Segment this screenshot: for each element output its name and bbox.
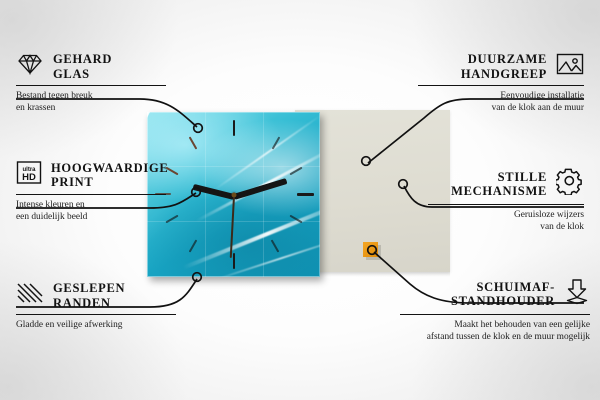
down-arrow-icon bbox=[564, 278, 590, 310]
picture-frame-icon bbox=[556, 52, 584, 81]
diagonal-lines-icon bbox=[16, 281, 44, 310]
feature-divider bbox=[418, 85, 584, 86]
feature-title: HOOGWAARDIGE PRINT bbox=[51, 161, 168, 190]
feature-divider bbox=[16, 314, 176, 315]
svg-text:HD: HD bbox=[22, 172, 36, 183]
foam-spacer bbox=[363, 242, 378, 257]
glass-wall-clock bbox=[147, 112, 320, 277]
glass-edge bbox=[147, 112, 320, 277]
feature-title: STILLE MECHANISME bbox=[451, 170, 547, 199]
infographic-canvas: GEHARD GLAS Bestand tegen breuk en krass… bbox=[0, 0, 600, 400]
feature-schuimafstandhouder: SCHUIMAF- STANDHOUDER Maakt het behouden… bbox=[400, 278, 590, 343]
feature-duurzame-handgreep: DUURZAME HANDGREEP Eenvoudige installati… bbox=[418, 52, 584, 114]
feature-geslepen-randen: GESLEPEN RANDEN Gladde en veilige afwerk… bbox=[16, 281, 176, 332]
feature-stille-mechanisme: STILLE MECHANISME Geruisloze wijzers van… bbox=[428, 168, 584, 233]
feature-divider bbox=[16, 194, 166, 195]
ultra-hd-icon: ultra HD bbox=[16, 160, 42, 190]
diamond-icon bbox=[16, 53, 44, 80]
feature-hoogwaardige-print: ultra HD HOOGWAARDIGE PRINT Intense kleu… bbox=[16, 160, 166, 223]
feature-divider bbox=[428, 204, 584, 205]
feature-divider bbox=[400, 314, 590, 315]
feature-title: GEHARD GLAS bbox=[53, 52, 112, 81]
feature-title: GESLEPEN RANDEN bbox=[53, 281, 125, 310]
feature-title: DUURZAME HANDGREEP bbox=[461, 52, 547, 81]
gear-icon bbox=[556, 168, 584, 200]
feature-divider bbox=[16, 85, 166, 86]
feature-title: SCHUIMAF- STANDHOUDER bbox=[451, 280, 555, 309]
feature-gehard-glas: GEHARD GLAS Bestand tegen breuk en krass… bbox=[16, 52, 166, 114]
